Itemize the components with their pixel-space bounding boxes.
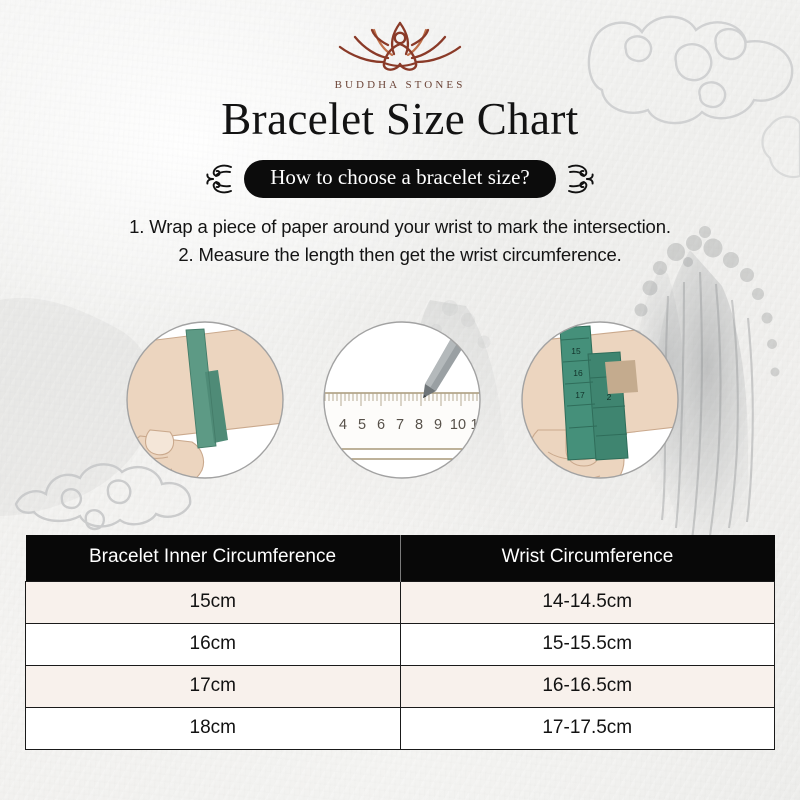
instructions-block: 1. Wrap a piece of paper around your wri… (0, 213, 800, 269)
ruler-label: 12 (489, 417, 505, 433)
lotus-meditation-logo-icon (328, 14, 472, 76)
scroll-flourish-right-icon (566, 160, 596, 198)
figure-tape-measure-wrist: 15 16 17 2 (506, 322, 702, 497)
table-header-row: Bracelet Inner Circumference Wrist Circu… (26, 535, 775, 582)
illustration-row: x x 3 4 5 6 7 8 9 10 11 12 (0, 300, 800, 510)
cell-bracelet-size: 17cm (26, 666, 401, 708)
figure-ruler-measure: x x 3 4 5 6 7 8 9 10 11 12 (318, 322, 505, 478)
subtitle-pill: How to choose a bracelet size? (244, 160, 555, 198)
bracelet-size-chart-page: BUDDHA STONES Bracelet Size Chart How to… (0, 0, 800, 800)
cell-bracelet-size: 16cm (26, 624, 401, 666)
cell-wrist-size: 17-17.5cm (400, 708, 775, 750)
ruler-label: 10 (450, 417, 466, 433)
tape-label: 17 (575, 390, 585, 400)
brand-name: BUDDHA STONES (0, 79, 800, 91)
ruler-label: 5 (358, 417, 366, 433)
cell-wrist-size: 16-16.5cm (400, 666, 775, 708)
column-header-wrist-circumference: Wrist Circumference (400, 535, 775, 582)
ruler-label: 8 (415, 417, 423, 433)
ruler-label: 7 (396, 417, 404, 433)
cell-wrist-size: 14-14.5cm (400, 582, 775, 624)
tape-label: 15 (571, 346, 581, 356)
brand-logo-block: BUDDHA STONES (0, 14, 800, 91)
cell-bracelet-size: 15cm (26, 582, 401, 624)
ruler-label: 9 (434, 417, 442, 433)
table-row: 17cm 16-16.5cm (26, 666, 775, 708)
instruction-step-2: 2. Measure the length then get the wrist… (0, 241, 800, 269)
ruler-label: 6 (377, 417, 385, 433)
table-row: 16cm 15-15.5cm (26, 624, 775, 666)
page-title: Bracelet Size Chart (0, 97, 800, 142)
table-row: 15cm 14-14.5cm (26, 582, 775, 624)
table-row: 18cm 17-17.5cm (26, 708, 775, 750)
subtitle-row: How to choose a bracelet size? (0, 160, 800, 198)
instruction-step-1: 1. Wrap a piece of paper around your wri… (0, 213, 800, 241)
cell-wrist-size: 15-15.5cm (400, 624, 775, 666)
column-header-bracelet-inner-circumference: Bracelet Inner Circumference (26, 535, 401, 582)
ruler-label: 4 (339, 417, 347, 433)
figure-wrist-wrap-paper (108, 322, 310, 490)
size-chart-table: Bracelet Inner Circumference Wrist Circu… (25, 535, 775, 750)
cell-bracelet-size: 18cm (26, 708, 401, 750)
scroll-flourish-left-icon (204, 160, 234, 198)
tape-label: 16 (573, 368, 583, 378)
